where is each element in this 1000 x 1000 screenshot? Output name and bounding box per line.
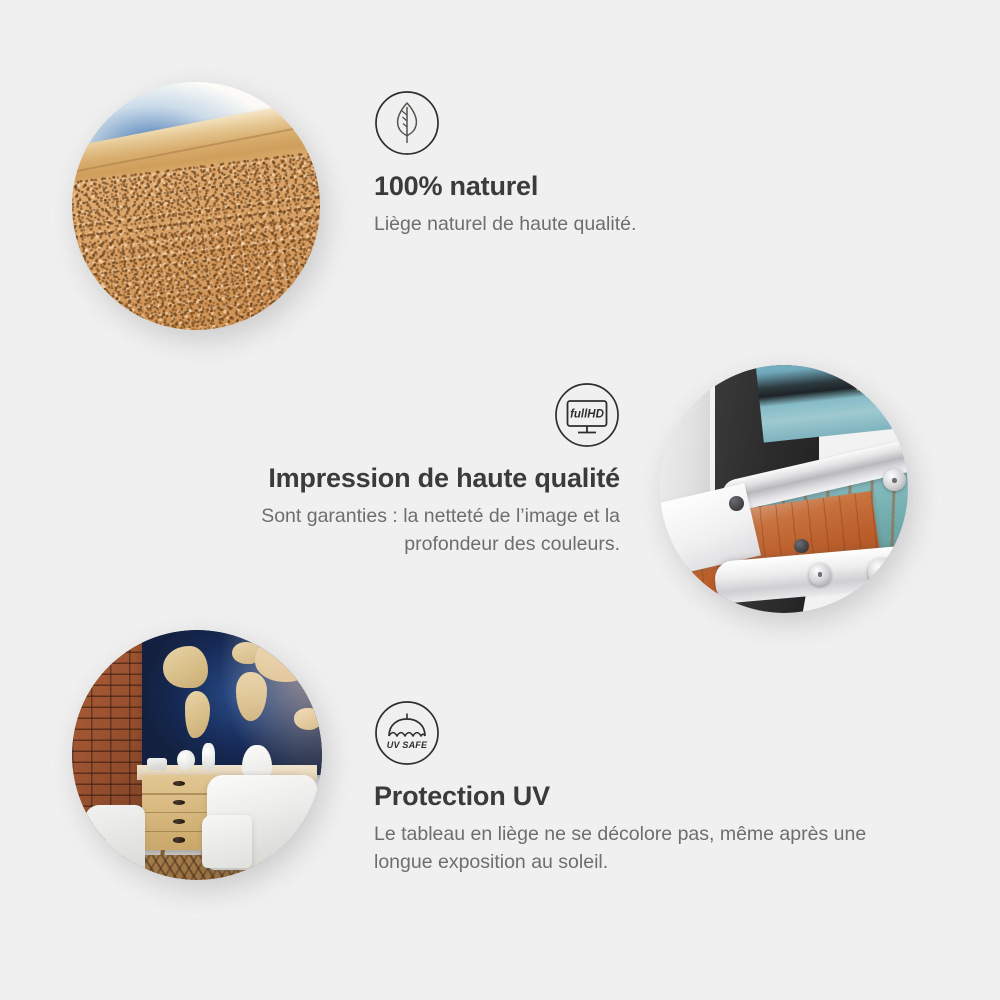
infographic-page: 100% naturel Liège naturel de haute qual…: [0, 0, 1000, 1000]
map-continent-africa: [236, 672, 267, 722]
leaf-icon-svg: [374, 90, 440, 156]
room-photo-armchair-left: [85, 805, 145, 875]
map-continent-south-america: [185, 691, 210, 738]
uv-safe-umbrella-icon-svg: UV SAFE: [374, 700, 440, 766]
feature-block-print: fullHD Impression de haute qualité Sont …: [170, 382, 620, 558]
press-photo-roller-knob: [883, 469, 905, 491]
feature-block-natural: 100% naturel Liège naturel de haute qual…: [374, 90, 934, 238]
feature-description-natural: Liège naturel de haute qualité.: [374, 210, 874, 238]
feature-description-print: Sont garanties : la netteté de l’image e…: [170, 502, 620, 559]
fullhd-icon-label: fullHD: [570, 409, 604, 421]
room-photo-decor-globe: [177, 750, 195, 770]
cork-board-closeup-photo: [72, 82, 320, 330]
press-photo-roller-knob: [809, 563, 831, 585]
feature-title-print: Impression de haute qualité: [170, 462, 620, 496]
printing-press-photo: [660, 365, 908, 613]
feature-title-natural: 100% naturel: [374, 170, 934, 204]
uv-safe-umbrella-icon: UV SAFE: [374, 700, 934, 766]
room-photo-armchair-right-armrest: [202, 815, 252, 868]
map-continent-north-america: [163, 646, 208, 688]
interior-world-map-photo: [72, 630, 322, 880]
map-continent-australia: [294, 708, 321, 731]
uv-safe-icon-label: UV SAFE: [387, 740, 428, 750]
feature-title-uv: Protection UV: [374, 780, 934, 814]
press-photo-bolt: [794, 539, 809, 554]
feature-block-uv: UV SAFE Protection UV Le tableau en lièg…: [374, 700, 934, 876]
map-continent-asia: [255, 637, 314, 682]
fullhd-monitor-icon: fullHD: [170, 382, 620, 448]
feature-description-uv: Le tableau en liège ne se décolore pas, …: [374, 820, 874, 877]
room-photo-decor-object: [147, 758, 167, 771]
press-photo-roller-knob: [868, 558, 895, 585]
fullhd-monitor-icon-svg: fullHD: [554, 382, 620, 448]
leaf-icon: [374, 90, 934, 156]
room-photo-world-map-board: [142, 630, 322, 775]
room-photo-decor-figurine: [202, 743, 215, 771]
